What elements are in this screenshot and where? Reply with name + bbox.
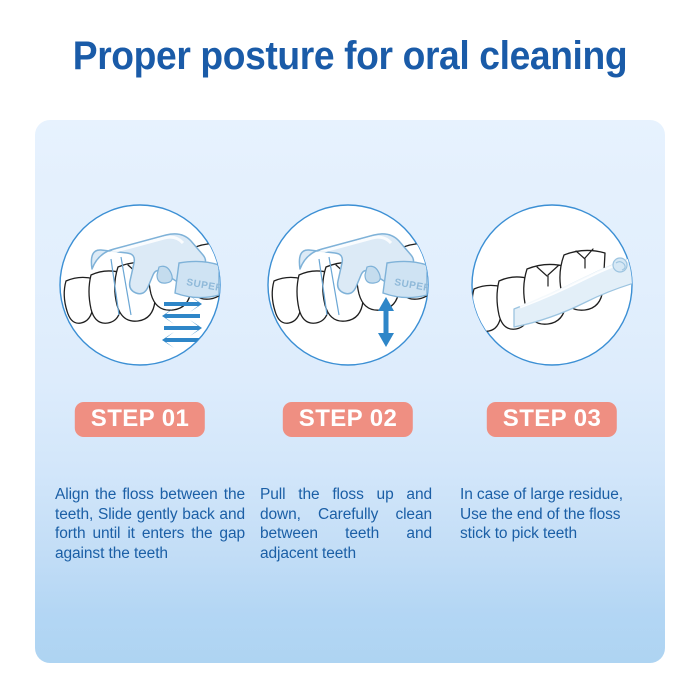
step-3-badge: STEP 03: [487, 402, 617, 437]
floss-stick-end-picking-teeth-icon: [470, 203, 634, 367]
steps-columns: SUPER: [35, 120, 665, 663]
step-2-illustration: SUPER: [266, 203, 430, 367]
step-3-description: In case of large residue, Use the end of…: [460, 485, 645, 544]
step-column-2: SUPER STEP 02 Pull the floss up and down…: [243, 120, 453, 663]
steps-panel: SUPER: [35, 120, 665, 663]
step-1-description: Align the floss between the teeth, Slide…: [55, 485, 245, 563]
step-3-illustration: [470, 203, 634, 367]
floss-pick-between-teeth-sideways-icon: SUPER: [58, 203, 222, 367]
step-2-badge: STEP 02: [283, 402, 413, 437]
floss-pick-between-teeth-vertical-icon: SUPER: [266, 203, 430, 367]
step-1-badge: STEP 01: [75, 402, 205, 437]
step-1-illustration: SUPER: [58, 203, 222, 367]
step-2-description: Pull the floss up and down, Carefully cl…: [260, 485, 432, 563]
step-column-1: SUPER: [35, 120, 245, 663]
step-column-3: STEP 03 In case of large residue, Use th…: [447, 120, 657, 663]
page-title: Proper posture for oral cleaning: [25, 34, 676, 79]
infographic-page: Proper posture for oral cleaning: [0, 0, 700, 700]
